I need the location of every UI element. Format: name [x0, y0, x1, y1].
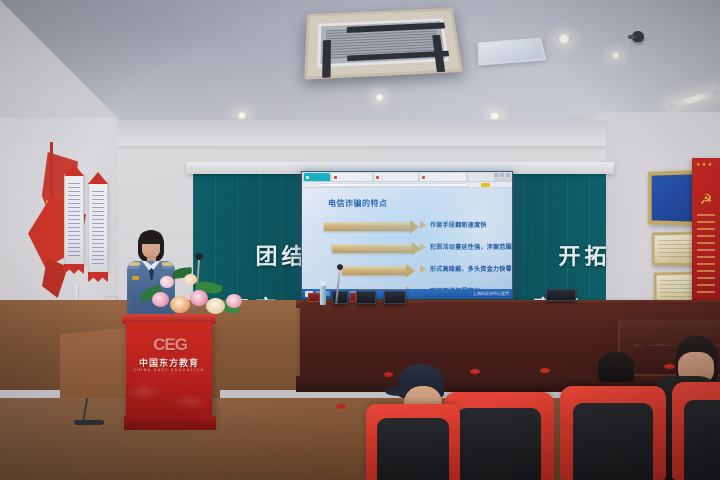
arrow-shape — [324, 222, 410, 231]
slide-row-text: 形式高隐蔽、多头资金力快零理 — [430, 264, 512, 273]
arrow-shape — [332, 244, 412, 253]
laptop-icon[interactable] — [384, 291, 406, 304]
hammer-sickle-icon: ☭ — [700, 192, 713, 206]
slide-row: 作案手段翻新速度快 — [302, 218, 512, 240]
rose-decoration — [470, 369, 480, 374]
auditorium-seat[interactable] — [672, 382, 720, 480]
banner-stars: ★ ★ ★ — [696, 163, 716, 168]
rose-decoration — [540, 368, 550, 373]
bookmark-star-icon[interactable] — [481, 183, 490, 187]
slogan-left-line1: 团结 — [255, 244, 307, 269]
bullet-arrow-icon — [420, 265, 426, 273]
podium-brand-en: CHINA EAST EDUCATION — [128, 368, 210, 372]
ceiling-downlight — [488, 112, 501, 120]
browser-tab[interactable] — [304, 173, 330, 181]
slide-row: 形式高隐蔽、多头资金力快零理 — [302, 262, 512, 284]
arrow-shape — [342, 266, 406, 275]
bullet-arrow-icon — [420, 221, 426, 229]
slide-title: 电信诈骗的特点 — [328, 198, 388, 209]
laptop-icon[interactable] — [356, 291, 376, 304]
browser-tab[interactable] — [332, 173, 372, 181]
window-controls[interactable] — [494, 173, 510, 177]
name-plate — [308, 293, 320, 302]
podium-pattern — [128, 378, 210, 416]
ceg-logo-icon: CEG — [150, 332, 190, 358]
party-banner: ★ ★ ★ ☭ — [692, 158, 720, 304]
browser-tab[interactable] — [420, 173, 466, 181]
presentation-slide: 电信诈骗的特点 作案手段翻新速度快 犯罪活动蔓延性强，涉案范围广 — [302, 188, 512, 289]
ceiling-downlight — [610, 52, 621, 59]
browser-tab[interactable] — [468, 173, 494, 181]
slogan-right-line1: 开拓 — [558, 244, 610, 269]
wall-banner-panel — [64, 174, 84, 266]
fringe — [139, 231, 163, 244]
slide-row-text: 作案手段翻新速度快 — [430, 220, 487, 229]
bullet-arrow-icon — [420, 243, 426, 251]
auditorium-seat[interactable] — [444, 392, 554, 480]
slide-bullet-list: 作案手段翻新速度快 犯罪活动蔓延性强，涉案范围广 形式高隐蔽、多头资金力快零理 — [302, 218, 512, 289]
rose-decoration — [336, 404, 346, 409]
browser-tab-bar[interactable] — [302, 172, 512, 182]
taskbar-clock: 上海市反诈中心宣传 — [473, 291, 509, 297]
name-plate — [350, 293, 356, 302]
rose-decoration — [384, 372, 393, 377]
ceiling-downlight — [374, 94, 385, 101]
wall-banner-panel — [88, 182, 108, 274]
auditorium-seat[interactable] — [366, 404, 460, 480]
mic-stand-base — [74, 420, 104, 425]
water-bottle — [320, 285, 326, 305]
rose-decoration — [664, 364, 675, 369]
projection-screen: 电信诈骗的特点 作案手段翻新速度快 犯罪活动蔓延性强，涉案范围广 — [301, 171, 513, 299]
lecture-hall-photo: ★ ★ ★ ☭ 团结 务实 开拓 奉献 — [0, 0, 720, 480]
podium-base — [124, 416, 216, 430]
audience-head — [598, 352, 634, 382]
ceiling-downlight — [236, 112, 248, 119]
ceiling-downlight — [556, 34, 572, 44]
red-flag-wall-art — [18, 138, 110, 293]
ceiling-air-conditioner-icon — [304, 8, 463, 80]
browser-tab[interactable] — [374, 173, 418, 181]
slide-row: 犯罪活动蔓延性强，涉案范围广 — [302, 240, 512, 262]
auditorium-seat[interactable] — [560, 386, 666, 480]
ceiling-camera-icon — [632, 31, 644, 42]
laptop-icon[interactable] — [546, 289, 576, 301]
slide-row-text: 犯罪活动蔓延性强，涉案范围广 — [430, 242, 512, 251]
